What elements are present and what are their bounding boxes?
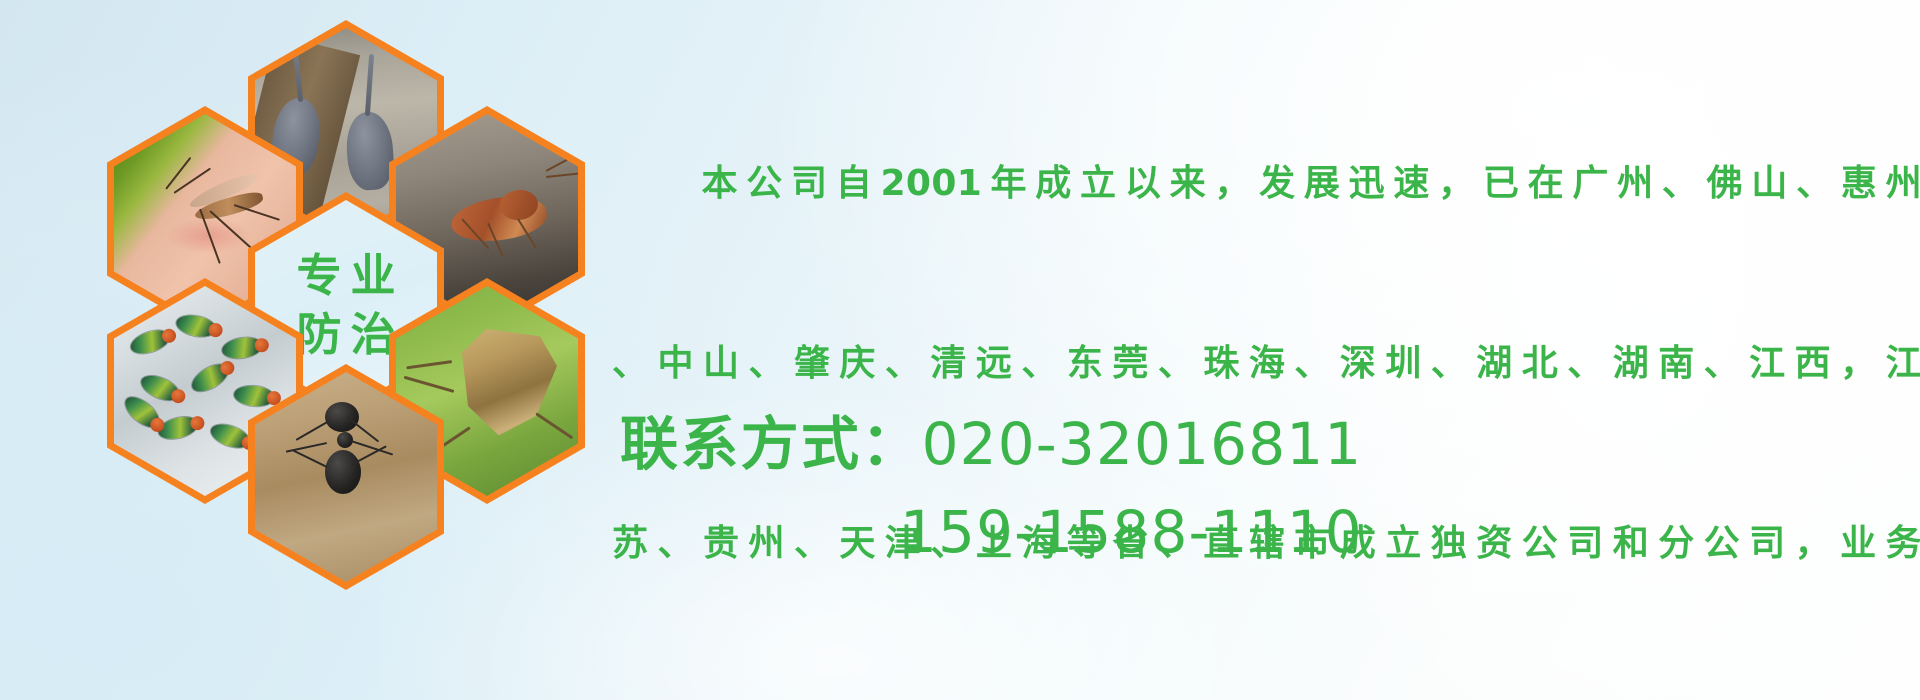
description-line-4: 区域分布广、规模化连锁经营，成为国内专业有害生物防制行业的 [612,694,1920,700]
description-line-1: 本公司自2001年成立以来，发展迅速，已在广州、佛山、惠州 [612,154,1920,214]
promo-banner: 专业 防治 [0,0,1920,700]
description-paragraph: 本公司自2001年成立以来，发展迅速，已在广州、佛山、惠州 、中山、肇庆、清远、… [612,34,1920,700]
contact-block: 联系方式：020-32016811 159-1588-1110 [620,400,1520,576]
phone-primary[interactable]: 020-32016811 [922,410,1363,478]
company-description: 本公司自2001年成立以来，发展迅速，已在广州、佛山、惠州 、中山、肇庆、清远、… [612,34,1920,700]
contact-secondary-line: 159-1588-1110 [620,488,1520,576]
description-line-2: 、中山、肇庆、清远、东莞、珠海、深圳、湖北、湖南、江西，江 [612,334,1920,394]
ant-photo [255,372,437,582]
hex-image-ant [255,372,437,582]
slogan-line-2: 防治 [287,305,404,364]
honeycomb-gallery: 专业 防治 [85,0,585,556]
phone-secondary[interactable]: 159-1588-1110 [900,498,1363,566]
slogan-line-1: 专业 [287,246,404,305]
contact-label: 联系方式： [620,410,922,478]
contact-primary-line: 联系方式：020-32016811 [620,400,1520,488]
